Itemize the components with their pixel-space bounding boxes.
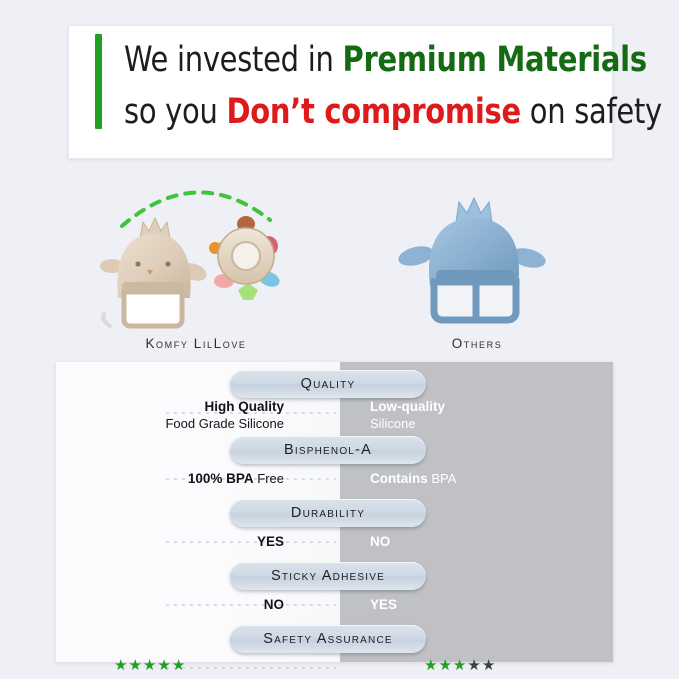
rating-stars-right: ★★★★★: [424, 656, 496, 674]
comparison-table: Quality High Quality Food Grade Silicone…: [56, 362, 613, 662]
row-value-right: Low-quality Silicone: [370, 398, 600, 432]
headline-text-group: We invested in Premium Materials so you …: [124, 34, 606, 138]
row-value-right-primary: Contains: [370, 471, 428, 486]
row-label-bisphenol-a: Bisphenol-A: [230, 436, 426, 464]
row-value-left-primary: YES: [257, 534, 284, 549]
product-left: Komfy LilLove: [96, 176, 296, 361]
headline-line2-highlight: Don’t compromise: [227, 92, 521, 132]
product-left-caption: Komfy LilLove: [96, 336, 296, 351]
row-value-right-primary: Low-quality: [370, 398, 600, 415]
row-value-left: 100% BPA Free: [76, 470, 284, 487]
dot-connector-left: [166, 667, 336, 669]
teether-mitten-beige-icon: [96, 186, 296, 336]
green-accent-bar: [95, 34, 102, 129]
row-value-right-primary: NO: [370, 534, 390, 549]
row-value-right: Contains BPA: [370, 470, 600, 487]
row-value-right-secondary: BPA: [431, 471, 456, 486]
row-value-left-primary: High Quality: [76, 398, 284, 415]
row-label-durability: Durability: [230, 499, 426, 527]
row-label-sticky-adhesive: Sticky Adhesive: [230, 562, 426, 590]
row-value-left: NO: [76, 596, 284, 613]
row-value-right: NO: [370, 533, 600, 550]
headline-line2-plain-end: on safety: [521, 92, 662, 132]
headline-banner: We invested in Premium Materials so you …: [68, 25, 613, 159]
product-right-caption: Others: [392, 336, 562, 351]
page-root: We invested in Premium Materials so you …: [0, 0, 679, 679]
row-value-right-primary: YES: [370, 597, 397, 612]
headline-line1-plain: We invested in: [124, 40, 343, 80]
row-value-right-secondary: Silicone: [370, 415, 600, 432]
product-right: Others: [392, 176, 562, 361]
rating-stars-left: ★★★★★: [114, 656, 186, 674]
row-value-left: YES: [76, 533, 284, 550]
row-value-left: High Quality Food Grade Silicone: [76, 398, 284, 432]
headline-line-1: We invested in Premium Materials: [124, 34, 567, 86]
row-value-left-primary: 100% BPA: [188, 471, 254, 486]
headline-line-2: so you Don’t compromise on safety: [124, 86, 567, 138]
row-value-left-primary: NO: [264, 597, 284, 612]
row-label-quality: Quality: [230, 370, 426, 398]
headline-line2-plain-start: so you: [124, 92, 227, 132]
teether-mitten-blue-icon: [392, 186, 562, 336]
row-value-right: YES: [370, 596, 600, 613]
headline-line1-highlight: Premium Materials: [343, 40, 647, 80]
row-value-left-secondary: Food Grade Silicone: [76, 415, 284, 432]
row-label-safety-assurance: Safety Assurance: [230, 625, 426, 653]
row-value-left-secondary: Free: [257, 471, 284, 486]
